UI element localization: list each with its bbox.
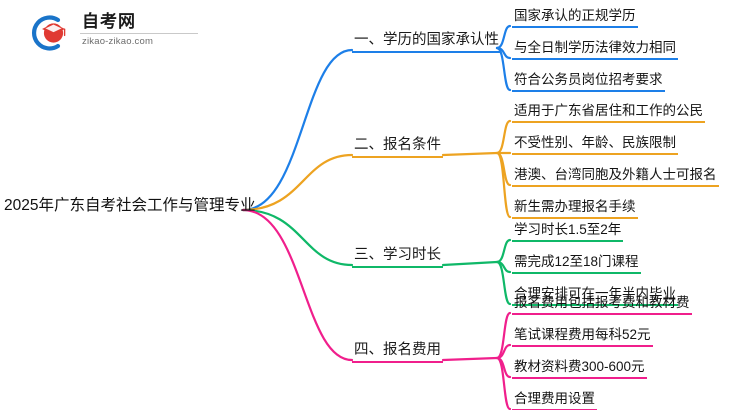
logo-name-cn: 自考网 (80, 12, 198, 32)
connector-line (243, 210, 352, 265)
mindmap-branch-2-title[interactable]: 二、报名条件 (352, 136, 443, 158)
mindmap-branch-3-leaf-1[interactable]: 学习时长1.5至2年 (512, 221, 623, 242)
connector-line (497, 153, 510, 217)
mindmap-branch-2-leaf-3[interactable]: 港澳、台湾同胞及外籍人士可报名 (512, 166, 719, 187)
mindmap-branch-1-leaf-1[interactable]: 国家承认的正规学历 (512, 7, 638, 28)
connector-line (497, 48, 510, 90)
connector-line (497, 262, 510, 272)
logo-text-block: 自考网 zikao-zikao.com (80, 12, 198, 48)
connector-line (497, 313, 510, 358)
connector-line (443, 358, 497, 360)
mindmap-canvas: 自考网 zikao-zikao.com 2025年广东自考社会工作与管理专业 一… (0, 0, 750, 410)
connector-line (497, 153, 510, 185)
connector-line (443, 262, 497, 265)
connector-line (497, 358, 510, 377)
mindmap-branch-4-leaf-1[interactable]: 报名费用包括报考费和教材费 (512, 294, 692, 315)
mindmap-branch-2-leaf-4[interactable]: 新生需办理报名手续 (512, 198, 638, 219)
graduation-cap-icon (28, 13, 72, 53)
mindmap-root-node[interactable]: 2025年广东自考社会工作与管理专业 (4, 196, 242, 216)
connector-line (497, 358, 510, 409)
connector-line (243, 210, 352, 360)
mindmap-branch-4-leaf-3[interactable]: 教材资料费300-600元 (512, 358, 647, 379)
connector-line (243, 155, 352, 210)
logo-divider (80, 33, 198, 34)
mindmap-branch-1-title[interactable]: 一、学历的国家承认性 (352, 31, 501, 53)
connector-line (497, 240, 510, 262)
site-logo[interactable]: 自考网 zikao-zikao.com (28, 10, 198, 56)
connector-line (497, 262, 510, 304)
mindmap-branch-1-leaf-2[interactable]: 与全日制学历法律效力相同 (512, 39, 678, 60)
mindmap-branch-4-leaf-4[interactable]: 合理费用设置 (512, 390, 597, 410)
mindmap-branch-4-leaf-2[interactable]: 笔试课程费用每科52元 (512, 326, 653, 347)
connector-line (497, 121, 510, 153)
mindmap-branch-4-title[interactable]: 四、报名费用 (352, 341, 443, 363)
logo-name-en: zikao-zikao.com (80, 36, 198, 48)
connector-line (243, 50, 352, 210)
connector-line (443, 153, 497, 155)
mindmap-branch-2-leaf-1[interactable]: 适用于广东省居住和工作的公民 (512, 102, 705, 123)
connector-line (497, 345, 510, 358)
mindmap-branch-3-title[interactable]: 三、学习时长 (352, 246, 443, 268)
mindmap-branch-3-leaf-2[interactable]: 需完成12至18门课程 (512, 253, 641, 274)
mindmap-branch-2-leaf-2[interactable]: 不受性别、年龄、民族限制 (512, 134, 678, 155)
mindmap-branch-1-leaf-3[interactable]: 符合公务员岗位招考要求 (512, 71, 665, 92)
